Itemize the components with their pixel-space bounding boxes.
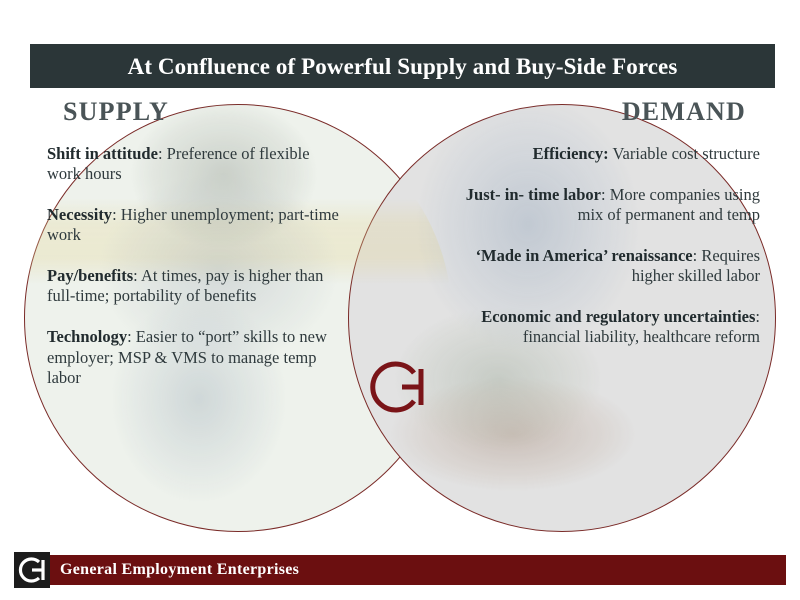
demand-bullet-2: Just- in- time labor: More companies usi…: [460, 185, 760, 225]
demand-bullet-4: Economic and regulatory uncertainties: f…: [460, 307, 760, 347]
demand-bullet-2-lead: Just- in- time labor: [466, 185, 601, 204]
demand-bullet-4-lead: Economic and regulatory uncertainties: [481, 307, 755, 326]
footer-company-name: General Employment Enterprises: [60, 558, 299, 582]
demand-bullet-2-body: : More companies using mix of permanent …: [578, 185, 760, 224]
slide-title-bar: At Confluence of Powerful Supply and Buy…: [30, 44, 775, 88]
supply-bullet-1: Shift in attitude: Preference of flexibl…: [47, 144, 347, 184]
supply-column: SUPPLY Shift in attitude: Preference of …: [47, 96, 347, 388]
slide-canvas: At Confluence of Powerful Supply and Buy…: [0, 0, 800, 600]
supply-bullet-3-lead: Pay/benefits: [47, 266, 133, 285]
demand-heading: DEMAND: [460, 96, 760, 128]
demand-bullet-3-lead: ‘Made in America’ renaissance: [476, 246, 693, 265]
page-title: At Confluence of Powerful Supply and Buy…: [128, 55, 678, 78]
demand-bullet-1: Efficiency: Variable cost structure: [460, 144, 760, 164]
footer-logo-icon: [14, 552, 50, 588]
supply-bullet-4-lead: Technology: [47, 327, 127, 346]
demand-bullet-1-lead: Efficiency:: [533, 144, 609, 163]
venn-diagram: SUPPLY Shift in attitude: Preference of …: [0, 96, 800, 540]
demand-column: DEMAND Efficiency: Variable cost structu…: [460, 96, 760, 348]
supply-bullet-4: Technology: Easier to “port” skills to n…: [47, 327, 347, 387]
general-employment-g-logo-icon: [370, 355, 434, 419]
supply-heading: SUPPLY: [47, 96, 347, 128]
supply-bullet-1-lead: Shift in attitude: [47, 144, 158, 163]
supply-bullet-2: Necessity: Higher unemployment; part-tim…: [47, 205, 347, 245]
demand-bullet-1-body: Variable cost structure: [609, 144, 760, 163]
supply-bullet-2-lead: Necessity: [47, 205, 112, 224]
supply-bullet-3: Pay/benefits: At times, pay is higher th…: [47, 266, 347, 306]
demand-bullet-3: ‘Made in America’ renaissance: Requires …: [460, 246, 760, 286]
